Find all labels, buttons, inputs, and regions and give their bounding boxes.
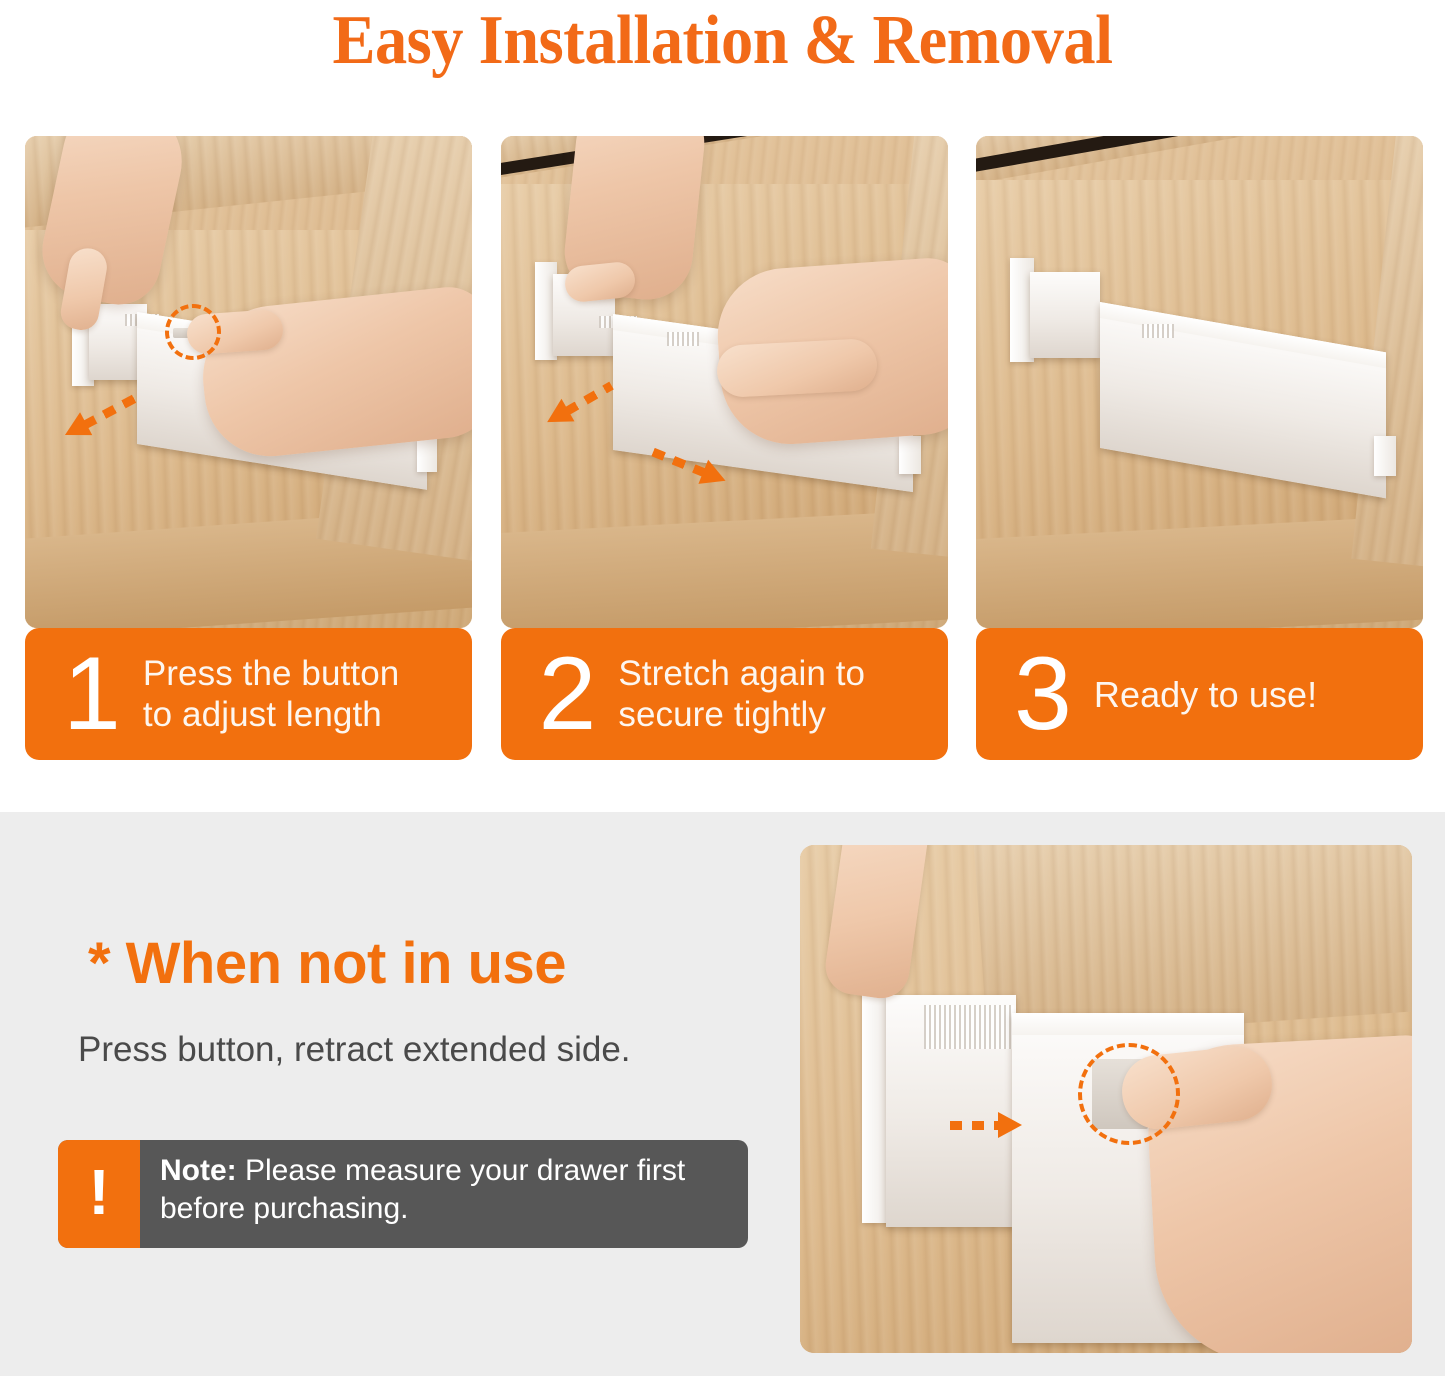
divider-joint-ribs [667, 332, 699, 346]
direction-arrow-right [950, 1121, 1000, 1130]
note-body: Please measure your drawer first before … [160, 1154, 685, 1225]
divider-inner-track [1030, 272, 1100, 358]
step-1-text: Press the button to adjust length [143, 653, 399, 735]
divider-right-endcap [899, 436, 921, 474]
step-1-text-line2: to adjust length [143, 695, 382, 734]
step-1-caption: 1 Press the button to adjust length [25, 628, 472, 760]
when-not-in-use-section: * When not in use Press button, retract … [0, 812, 1445, 1376]
note-text: Note: Please measure your drawer first b… [140, 1140, 748, 1248]
step-1-number: 1 [63, 642, 119, 746]
step-2-text-line1: Stretch again to [618, 654, 865, 693]
step-3-number: 3 [1014, 642, 1070, 746]
retract-photo [800, 845, 1412, 1353]
divider-right-endcap [417, 438, 437, 472]
step-2-number: 2 [539, 642, 595, 746]
step-2-photo [501, 136, 948, 628]
divider-ratchet-teeth [924, 1005, 1014, 1049]
step-2-text: Stretch again to secure tightly [618, 653, 865, 735]
exclamation-glyph: ! [88, 1160, 109, 1224]
step-3-photo [976, 136, 1423, 628]
divider-right-endcap [1374, 436, 1396, 476]
button-highlight-circle [165, 304, 221, 360]
step-1-photo [25, 136, 472, 628]
button-highlight-circle [1078, 1043, 1180, 1145]
step-card-2: 2 Stretch again to secure tightly [501, 136, 948, 760]
step-3-caption: 3 Ready to use! [976, 628, 1423, 760]
step-2-caption: 2 Stretch again to secure tightly [501, 628, 948, 760]
steps-row: 1 Press the button to adjust length [25, 136, 1423, 760]
step-3-text: Ready to use! [1094, 674, 1317, 715]
installation-section: Easy Installation & Removal [0, 0, 1445, 812]
step-card-3: 3 Ready to use! [976, 136, 1423, 760]
step-card-1: 1 Press the button to adjust length [25, 136, 472, 760]
page-title: Easy Installation & Removal [58, 2, 1387, 80]
divider-joint-ribs [1142, 324, 1174, 338]
divider-top-edge [1012, 1013, 1244, 1035]
step-2-text-line2: secure tightly [618, 695, 826, 734]
exclamation-icon: ! [58, 1140, 140, 1248]
drawer-back-rail [974, 845, 1412, 1041]
note-box: ! Note: Please measure your drawer first… [58, 1140, 748, 1248]
when-not-in-use-heading: * When not in use [88, 930, 566, 997]
note-label: Note: [160, 1154, 237, 1187]
when-not-in-use-subtitle: Press button, retract extended side. [78, 1030, 631, 1070]
right-hand-fingers [715, 338, 878, 398]
step-1-text-line1: Press the button [143, 654, 399, 693]
